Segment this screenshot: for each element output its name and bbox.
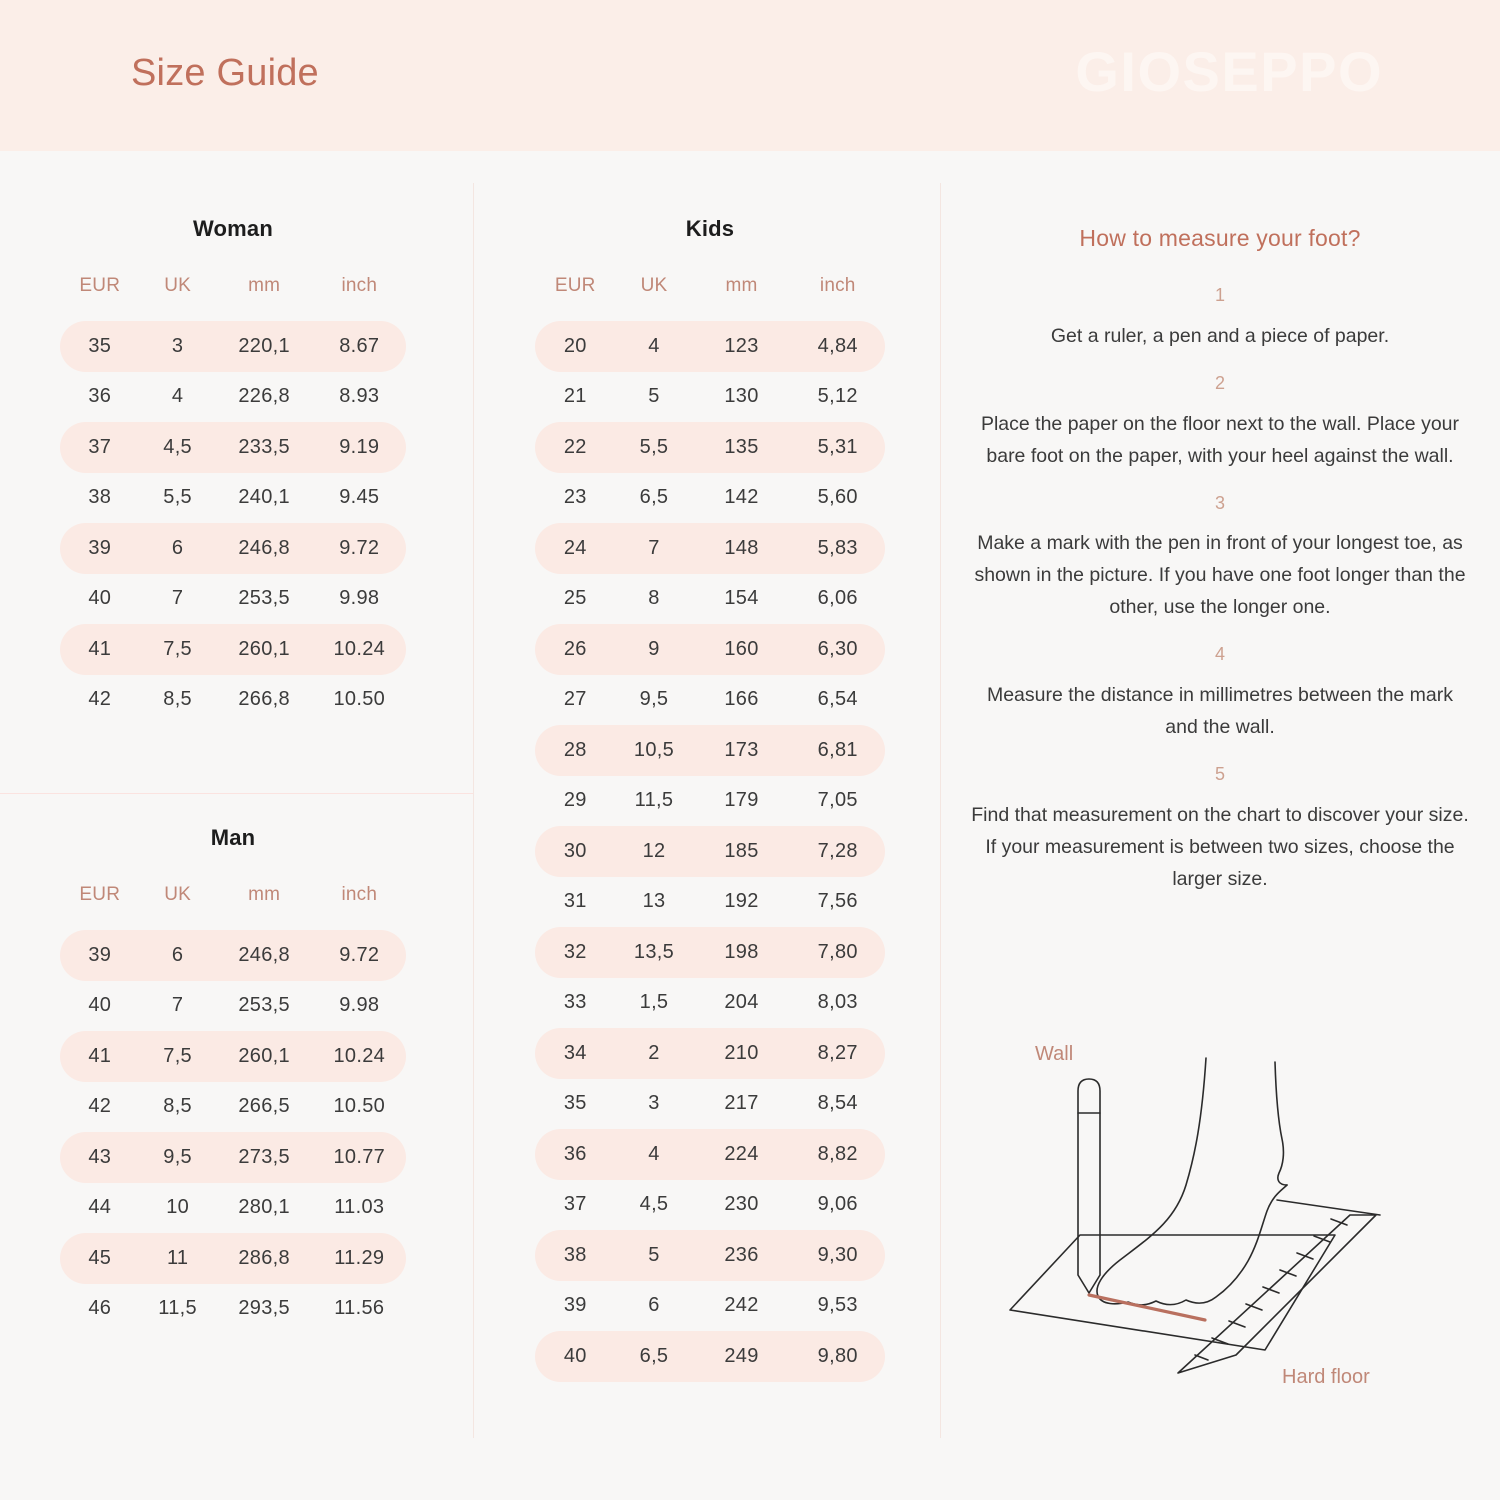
cell-inch: 8,82	[791, 1129, 886, 1180]
cell-uk: 8,5	[140, 675, 216, 726]
cell-mm: 135	[693, 422, 791, 473]
cell-mm: 249	[693, 1331, 791, 1382]
cell-mm: 253,5	[216, 574, 313, 625]
page-title: Size Guide	[131, 52, 319, 95]
page-header: Size Guide GIOSEPPO	[0, 0, 1500, 151]
cell-uk: 2	[616, 1028, 693, 1079]
table-row: 3213,51987,80	[535, 927, 885, 978]
table-row: 2581546,06	[535, 574, 885, 625]
cell-inch: 10.50	[313, 1082, 406, 1133]
measure-step: 5Find that measurement on the chart to d…	[960, 765, 1480, 895]
how-to-measure-title: How to measure your foot?	[960, 225, 1480, 252]
woman-table-title: Woman	[0, 216, 466, 242]
cell-eur: 35	[60, 321, 140, 372]
cell-eur: 36	[60, 372, 140, 423]
cell-eur: 40	[60, 574, 140, 625]
column-header-mm: mm	[693, 275, 791, 321]
cell-mm: 273,5	[216, 1132, 313, 1183]
cell-mm: 246,8	[216, 930, 313, 981]
table-header-row: EUR UK mm inch	[60, 275, 406, 321]
cell-eur: 39	[60, 930, 140, 981]
cell-uk: 4,5	[140, 422, 216, 473]
measurement-mark-line	[1089, 1295, 1205, 1320]
column-header-inch: inch	[313, 884, 406, 930]
cell-eur: 35	[535, 1079, 616, 1130]
cell-eur: 20	[535, 321, 616, 372]
table-row: 353220,18.67	[60, 321, 406, 372]
table-row: 396246,89.72	[60, 930, 406, 981]
table-row: 428,5266,510.50	[60, 1082, 406, 1133]
cell-eur: 37	[535, 1180, 616, 1231]
cell-inch: 8,03	[791, 978, 886, 1029]
cell-mm: 179	[693, 776, 791, 827]
cell-eur: 36	[535, 1129, 616, 1180]
table-row: 279,51666,54	[535, 675, 885, 726]
measure-step: 4Measure the distance in millimetres bet…	[960, 645, 1480, 743]
table-row: 385,5240,19.45	[60, 473, 406, 524]
cell-uk: 5,5	[616, 422, 693, 473]
cell-eur: 28	[535, 725, 616, 776]
cell-uk: 11,5	[616, 776, 693, 827]
how-to-measure-panel: How to measure your foot? 1Get a ruler, …	[960, 225, 1480, 917]
man-size-table-block: Man EUR UK mm inch 396246,89.72407253,59…	[0, 825, 466, 1334]
kids-table-title: Kids	[480, 216, 940, 242]
cell-inch: 5,12	[791, 372, 886, 423]
cell-inch: 9,80	[791, 1331, 886, 1382]
cell-uk: 7	[140, 574, 216, 625]
table-row: 2911,51797,05	[535, 776, 885, 827]
cell-inch: 8.67	[313, 321, 406, 372]
table-row: 374,5233,59.19	[60, 422, 406, 473]
cell-eur: 41	[60, 1031, 140, 1082]
cell-inch: 9.98	[313, 574, 406, 625]
cell-inch: 8,54	[791, 1079, 886, 1130]
step-number: 4	[960, 645, 1480, 665]
table-row: 4611,5293,511.56	[60, 1284, 406, 1335]
column-header-uk: UK	[140, 275, 216, 321]
cell-uk: 3	[616, 1079, 693, 1130]
cell-mm: 266,5	[216, 1082, 313, 1133]
cell-uk: 7	[616, 523, 693, 574]
ruler-tick	[1297, 1253, 1313, 1259]
step-text: Find that measurement on the chart to di…	[960, 799, 1480, 895]
cell-uk: 9	[616, 624, 693, 675]
cell-inch: 9.19	[313, 422, 406, 473]
cell-uk: 5,5	[140, 473, 216, 524]
vertical-divider-right	[940, 183, 941, 1438]
column-header-inch: inch	[791, 275, 886, 321]
table-row: 3642248,82	[535, 1129, 885, 1180]
cell-mm: 123	[693, 321, 791, 372]
step-number: 2	[960, 374, 1480, 394]
cell-mm: 233,5	[216, 422, 313, 473]
cell-eur: 30	[535, 826, 616, 877]
cell-eur: 34	[535, 1028, 616, 1079]
cell-mm: 192	[693, 877, 791, 928]
cell-uk: 11	[140, 1233, 216, 1284]
cell-uk: 7,5	[140, 624, 216, 675]
cell-mm: 266,8	[216, 675, 313, 726]
cell-eur: 40	[535, 1331, 616, 1382]
vertical-divider-left	[473, 183, 474, 1438]
cell-uk: 10,5	[616, 725, 693, 776]
cell-mm: 142	[693, 473, 791, 524]
cell-mm: 130	[693, 372, 791, 423]
cell-eur: 31	[535, 877, 616, 928]
kids-size-table-block: Kids EUR UK mm inch 2041234,842151305,12…	[480, 216, 940, 1382]
cell-uk: 8,5	[140, 1082, 216, 1133]
cell-mm: 280,1	[216, 1183, 313, 1234]
step-text: Place the paper on the floor next to the…	[960, 408, 1480, 472]
cell-inch: 5,83	[791, 523, 886, 574]
cell-mm: 204	[693, 978, 791, 1029]
column-header-inch: inch	[313, 275, 406, 321]
cell-eur: 43	[60, 1132, 140, 1183]
foot-diagram-svg	[990, 1025, 1460, 1415]
cell-mm: 253,5	[216, 981, 313, 1032]
table-row: 374,52309,06	[535, 1180, 885, 1231]
table-row: 396246,89.72	[60, 523, 406, 574]
cell-uk: 8	[616, 574, 693, 625]
cell-eur: 25	[535, 574, 616, 625]
cell-eur: 21	[535, 372, 616, 423]
cell-eur: 42	[60, 1082, 140, 1133]
cell-uk: 12	[616, 826, 693, 877]
cell-mm: 226,8	[216, 372, 313, 423]
cell-mm: 198	[693, 927, 791, 978]
table-row: 417,5260,110.24	[60, 1031, 406, 1082]
cell-eur: 44	[60, 1183, 140, 1234]
cell-mm: 246,8	[216, 523, 313, 574]
table-row: 236,51425,60	[535, 473, 885, 524]
cell-uk: 3	[140, 321, 216, 372]
wall-label: Wall	[1035, 1043, 1073, 1066]
cell-uk: 4,5	[616, 1180, 693, 1231]
cell-uk: 13,5	[616, 927, 693, 978]
cell-uk: 6,5	[616, 1331, 693, 1382]
heel-outline	[1275, 1062, 1287, 1185]
cell-inch: 10.24	[313, 624, 406, 675]
column-header-eur: EUR	[60, 884, 140, 930]
cell-inch: 6,54	[791, 675, 886, 726]
cell-inch: 8.93	[313, 372, 406, 423]
cell-eur: 42	[60, 675, 140, 726]
table-row: 4511286,811.29	[60, 1233, 406, 1284]
woman-size-table: EUR UK mm inch 353220,18.67364226,88.933…	[60, 275, 406, 725]
paper-sheet	[1010, 1235, 1335, 1350]
brand-logo: GIOSEPPO	[1075, 44, 1383, 100]
cell-eur: 38	[535, 1230, 616, 1281]
cell-inch: 10.50	[313, 675, 406, 726]
table-row: 406,52499,80	[535, 1331, 885, 1382]
cell-mm: 236	[693, 1230, 791, 1281]
horizontal-divider	[0, 793, 473, 794]
cell-inch: 10.24	[313, 1031, 406, 1082]
cell-mm: 210	[693, 1028, 791, 1079]
table-row: 2471485,83	[535, 523, 885, 574]
cell-uk: 9,5	[616, 675, 693, 726]
step-number: 5	[960, 765, 1480, 785]
cell-inch: 7,05	[791, 776, 886, 827]
cell-inch: 9.72	[313, 523, 406, 574]
table-row: 407253,59.98	[60, 981, 406, 1032]
cell-eur: 45	[60, 1233, 140, 1284]
cell-inch: 6,06	[791, 574, 886, 625]
cell-uk: 6	[616, 1281, 693, 1332]
floor-edge-line	[1277, 1200, 1380, 1215]
table-row: 417,5260,110.24	[60, 624, 406, 675]
cell-eur: 39	[60, 523, 140, 574]
cell-inch: 5,31	[791, 422, 886, 473]
cell-uk: 4	[616, 321, 693, 372]
step-text: Make a mark with the pen in front of you…	[960, 527, 1480, 623]
cell-mm: 185	[693, 826, 791, 877]
ruler-body	[1178, 1215, 1376, 1373]
table-row: 364226,88.93	[60, 372, 406, 423]
column-header-mm: mm	[216, 275, 313, 321]
cell-uk: 9,5	[140, 1132, 216, 1183]
cell-eur: 22	[535, 422, 616, 473]
cell-inch: 7,28	[791, 826, 886, 877]
column-header-mm: mm	[216, 884, 313, 930]
cell-eur: 46	[60, 1284, 140, 1335]
table-row: 407253,59.98	[60, 574, 406, 625]
cell-uk: 5	[616, 372, 693, 423]
man-size-table: EUR UK mm inch 396246,89.72407253,59.984…	[60, 884, 406, 1334]
measure-step: 2Place the paper on the floor next to th…	[960, 374, 1480, 472]
cell-uk: 6	[140, 930, 216, 981]
cell-eur: 38	[60, 473, 140, 524]
cell-uk: 5	[616, 1230, 693, 1281]
table-row: 31131927,56	[535, 877, 885, 928]
cell-uk: 4	[140, 372, 216, 423]
table-header-row: EUR UK mm inch	[535, 275, 885, 321]
cell-mm: 154	[693, 574, 791, 625]
table-row: 3422108,27	[535, 1028, 885, 1079]
foot-outline	[1097, 1058, 1287, 1305]
cell-mm: 220,1	[216, 321, 313, 372]
cell-inch: 9.98	[313, 981, 406, 1032]
cell-mm: 260,1	[216, 624, 313, 675]
table-row: 2151305,12	[535, 372, 885, 423]
cell-uk: 4	[616, 1129, 693, 1180]
cell-inch: 4,84	[791, 321, 886, 372]
cell-eur: 32	[535, 927, 616, 978]
column-header-eur: EUR	[60, 275, 140, 321]
step-text: Measure the distance in millimetres betw…	[960, 679, 1480, 743]
cell-mm: 224	[693, 1129, 791, 1180]
cell-uk: 10	[140, 1183, 216, 1234]
cell-inch: 5,60	[791, 473, 886, 524]
man-table-title: Man	[0, 825, 466, 851]
cell-inch: 9,53	[791, 1281, 886, 1332]
column-header-uk: UK	[616, 275, 693, 321]
cell-mm: 242	[693, 1281, 791, 1332]
cell-eur: 27	[535, 675, 616, 726]
table-row: 3852369,30	[535, 1230, 885, 1281]
cell-inch: 11.56	[313, 1284, 406, 1335]
cell-inch: 10.77	[313, 1132, 406, 1183]
cell-inch: 8,27	[791, 1028, 886, 1079]
cell-uk: 1,5	[616, 978, 693, 1029]
cell-inch: 7,80	[791, 927, 886, 978]
cell-eur: 33	[535, 978, 616, 1029]
cell-mm: 286,8	[216, 1233, 313, 1284]
cell-inch: 11.03	[313, 1183, 406, 1234]
cell-inch: 6,30	[791, 624, 886, 675]
cell-eur: 37	[60, 422, 140, 473]
measure-step: 1Get a ruler, a pen and a piece of paper…	[960, 286, 1480, 352]
cell-uk: 11,5	[140, 1284, 216, 1335]
cell-inch: 9,06	[791, 1180, 886, 1231]
cell-eur: 23	[535, 473, 616, 524]
table-row: 439,5273,510.77	[60, 1132, 406, 1183]
cell-eur: 40	[60, 981, 140, 1032]
column-header-eur: EUR	[535, 275, 616, 321]
table-header-row: EUR UK mm inch	[60, 884, 406, 930]
cell-mm: 160	[693, 624, 791, 675]
cell-uk: 13	[616, 877, 693, 928]
cell-uk: 7	[140, 981, 216, 1032]
table-row: 331,52048,03	[535, 978, 885, 1029]
table-row: 2810,51736,81	[535, 725, 885, 776]
cell-mm: 230	[693, 1180, 791, 1231]
table-row: 30121857,28	[535, 826, 885, 877]
cell-eur: 39	[535, 1281, 616, 1332]
table-row: 2041234,84	[535, 321, 885, 372]
step-number: 1	[960, 286, 1480, 306]
table-row: 428,5266,810.50	[60, 675, 406, 726]
cell-inch: 9.45	[313, 473, 406, 524]
cell-mm: 293,5	[216, 1284, 313, 1335]
foot-measurement-illustration: Wall Hard floor	[990, 1025, 1460, 1415]
measure-step: 3Make a mark with the pen in front of yo…	[960, 494, 1480, 624]
cell-eur: 29	[535, 776, 616, 827]
cell-eur: 26	[535, 624, 616, 675]
cell-mm: 173	[693, 725, 791, 776]
cell-uk: 6	[140, 523, 216, 574]
table-row: 4410280,111.03	[60, 1183, 406, 1234]
ruler-tick	[1195, 1355, 1208, 1360]
hard-floor-label: Hard floor	[1282, 1366, 1370, 1389]
cell-inch: 9.72	[313, 930, 406, 981]
table-row: 2691606,30	[535, 624, 885, 675]
cell-mm: 240,1	[216, 473, 313, 524]
step-text: Get a ruler, a pen and a piece of paper.	[960, 320, 1480, 352]
pencil-body	[1078, 1079, 1100, 1293]
kids-size-table: EUR UK mm inch 2041234,842151305,12225,5…	[535, 275, 885, 1382]
column-header-uk: UK	[140, 884, 216, 930]
cell-eur: 24	[535, 523, 616, 574]
cell-inch: 9,30	[791, 1230, 886, 1281]
cell-mm: 217	[693, 1079, 791, 1130]
table-row: 225,51355,31	[535, 422, 885, 473]
cell-mm: 148	[693, 523, 791, 574]
step-number: 3	[960, 494, 1480, 514]
table-row: 3962429,53	[535, 1281, 885, 1332]
cell-uk: 6,5	[616, 473, 693, 524]
cell-uk: 7,5	[140, 1031, 216, 1082]
table-row: 3532178,54	[535, 1079, 885, 1130]
cell-inch: 7,56	[791, 877, 886, 928]
cell-inch: 11.29	[313, 1233, 406, 1284]
cell-inch: 6,81	[791, 725, 886, 776]
woman-size-table-block: Woman EUR UK mm inch 353220,18.67364226,…	[0, 216, 466, 725]
cell-mm: 166	[693, 675, 791, 726]
cell-mm: 260,1	[216, 1031, 313, 1082]
cell-eur: 41	[60, 624, 140, 675]
